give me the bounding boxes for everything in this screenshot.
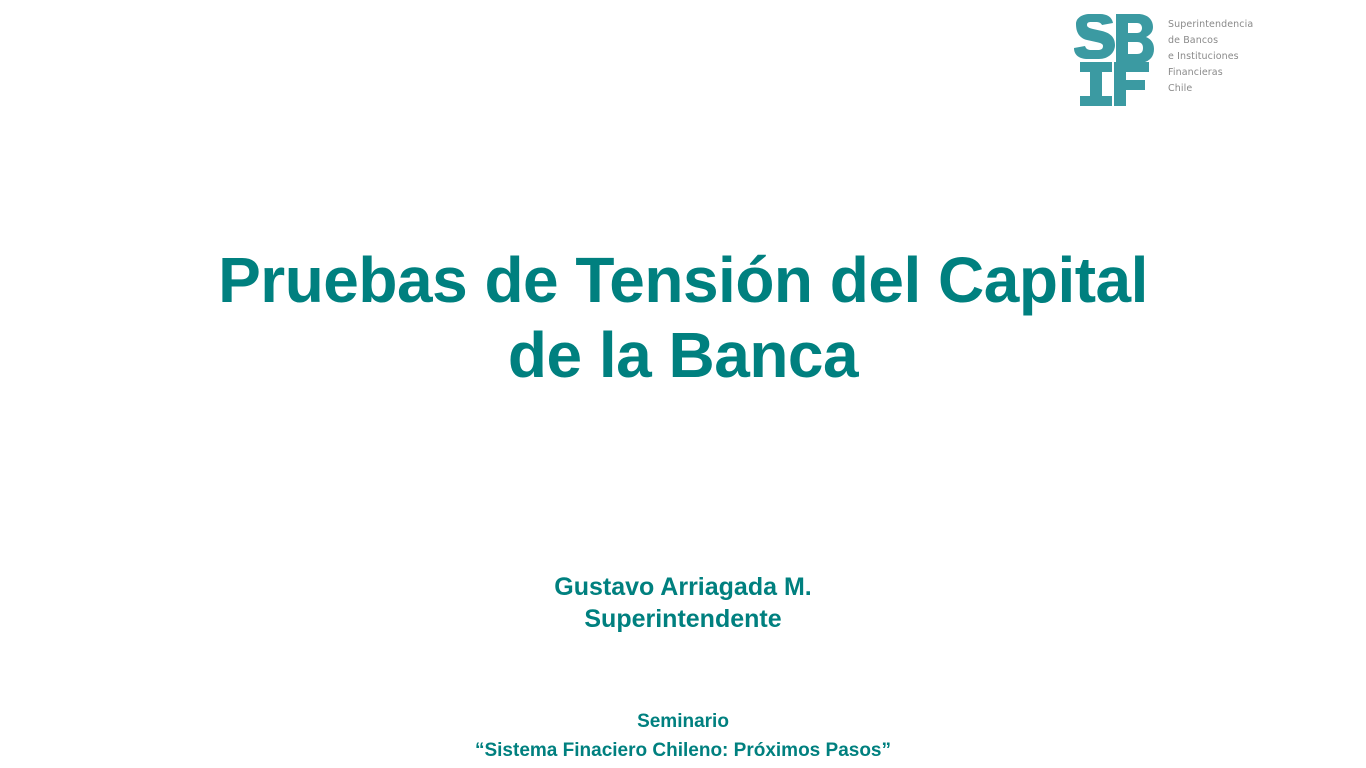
presenter-role: Superintendente — [0, 603, 1366, 635]
logo-wordmark-line-1: Superintendencia — [1168, 17, 1253, 33]
seminar-block: Seminario “Sistema Finaciero Chileno: Pr… — [0, 707, 1366, 765]
logo-wordmark-line-5: Chile — [1168, 81, 1253, 97]
slide-title: Pruebas de Tensión del Capital de la Ban… — [0, 243, 1366, 393]
logo-wordmark-line-2: de Bancos — [1168, 33, 1253, 49]
presentation-slide: Superintendencia de Bancos e Institucion… — [0, 0, 1366, 768]
presenter-block: Gustavo Arriagada M. Superintendente — [0, 571, 1366, 635]
sbif-logo-wordmark: Superintendencia de Bancos e Institucion… — [1168, 14, 1253, 97]
presenter-name: Gustavo Arriagada M. — [0, 571, 1366, 603]
seminar-name: “Sistema Finaciero Chileno: Próximos Pas… — [0, 736, 1366, 765]
title-line-2: de la Banca — [0, 318, 1366, 393]
sbif-logo: Superintendencia de Bancos e Institucion… — [1074, 14, 1289, 114]
logo-wordmark-line-3: e Instituciones — [1168, 49, 1253, 65]
logo-wordmark-line-4: Financieras — [1168, 65, 1253, 81]
title-line-1: Pruebas de Tensión del Capital — [0, 243, 1366, 318]
sbif-monogram-icon — [1074, 14, 1154, 106]
seminar-label: Seminario — [0, 707, 1366, 736]
